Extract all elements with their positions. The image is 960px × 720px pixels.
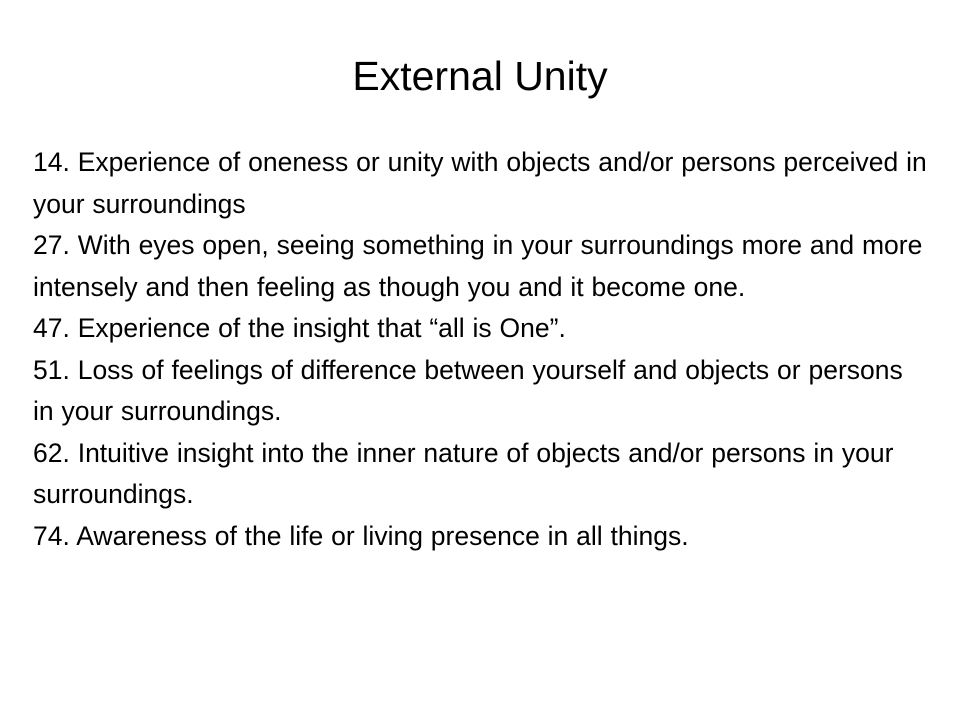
list-item: 51. Loss of feelings of difference betwe… — [33, 350, 929, 433]
list-item: 14. Experience of oneness or unity with … — [33, 142, 929, 225]
presentation-slide: External Unity 14. Experience of oneness… — [0, 0, 960, 720]
list-item: 47. Experience of the insight that “all … — [33, 308, 929, 350]
page-title: External Unity — [0, 52, 960, 100]
list-item: 27. With eyes open, seeing something in … — [33, 225, 929, 308]
list-item: 62. Intuitive insight into the inner nat… — [33, 433, 929, 516]
list-item: 74. Awareness of the life or living pres… — [33, 516, 929, 558]
slide-body-list: 14. Experience of oneness or unity with … — [33, 142, 929, 557]
